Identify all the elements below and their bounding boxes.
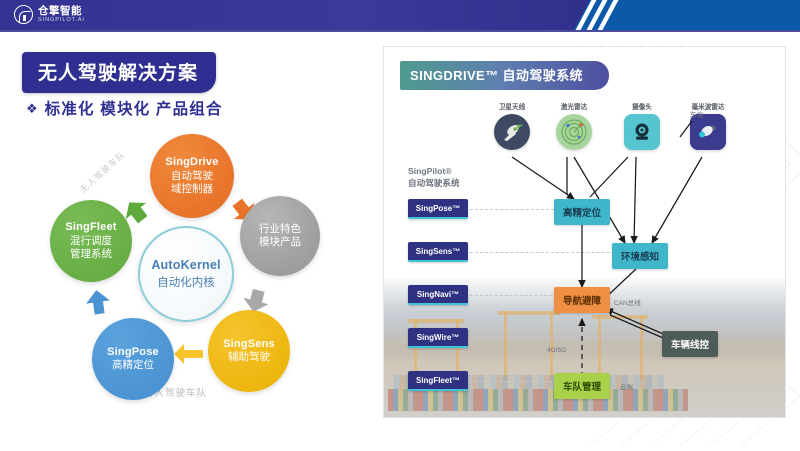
wheel-node-singfleet-cn1: 混行调度 bbox=[70, 235, 112, 248]
wheel-arrow-to-singsens bbox=[240, 288, 266, 310]
fbox-vehicle-drive-by-wire[interactable]: 车辆线控 bbox=[662, 331, 718, 357]
page-subtitle: ❖ 标准化 模块化 产品组合 bbox=[26, 97, 223, 119]
wheel-node-industry[interactable]: 行业特色 模块产品 bbox=[240, 196, 320, 276]
wheel-node-singfleet[interactable]: SingFleet 混行调度 管理系统 bbox=[50, 200, 132, 282]
annotation-can-bus: CAN总线 bbox=[614, 297, 641, 307]
wheel-core-cn: 自动化内核 bbox=[157, 274, 215, 290]
wheel-node-singpose-cn1: 高精定位 bbox=[112, 359, 154, 372]
panel-title-text: SINGDRIVE™ 自动驾驶系统 bbox=[410, 68, 583, 83]
sensor-camera-label: 摄像头 bbox=[632, 101, 652, 111]
ring-label-unmanned-fleet: 无人驾驶车队 bbox=[77, 148, 127, 195]
panel-title-banner: SINGDRIVE™ 自动驾驶系统 bbox=[400, 61, 609, 90]
wheel-node-singsens-cn1: 辅助驾驶 bbox=[228, 351, 270, 364]
brand-name-cn: 仓擎智能 bbox=[38, 6, 85, 17]
sensor-lidar[interactable]: 激光雷达 bbox=[556, 101, 592, 150]
fbox-fleet-management[interactable]: 车队管理 bbox=[554, 373, 610, 399]
singpilot-title-cn: 自动驾驶系统 bbox=[408, 177, 460, 189]
wheel-node-singpose-en: SingPose bbox=[107, 346, 159, 360]
wheel-node-industry-cn2: 模块产品 bbox=[259, 236, 301, 249]
wheel-core-en: AutoKernel bbox=[151, 258, 220, 272]
page-title-text: 无人驾驶解决方案 bbox=[38, 63, 198, 84]
chip-singfleet[interactable]: SingFleet™ bbox=[408, 371, 468, 391]
singpilot-column-title: SingPilot® 自动驾驶系统 bbox=[408, 165, 460, 190]
singpilot-logo-icon bbox=[14, 5, 33, 24]
sensor-camera[interactable]: 摄像头 bbox=[624, 101, 660, 150]
autokernel-wheel-diagram: 无人驾驶车队 有人驾驶车队 SingDrive 自动驾驶 域控制器 行业特色 模… bbox=[32, 128, 372, 418]
wheel-node-singfleet-cn2: 管理系统 bbox=[70, 248, 112, 261]
brand-logo-text: 仓擎智能 SINGPILOT.AI bbox=[38, 6, 85, 24]
brand-logo: 仓擎智能 SINGPILOT.AI bbox=[14, 5, 85, 24]
fbox-nav-obstacle[interactable]: 导航避障 bbox=[554, 287, 610, 313]
wheel-arrow-to-singpose bbox=[172, 340, 198, 362]
diamond-bullet-icon: ❖ bbox=[26, 102, 38, 115]
lidar-radar-icon bbox=[556, 114, 592, 150]
mmwave-radar-icon bbox=[690, 114, 726, 150]
container-stack-front bbox=[388, 389, 688, 411]
brand-name-en: SINGPILOT.AI bbox=[38, 18, 85, 24]
header-underline bbox=[0, 30, 800, 32]
page-subtitle-text: 标准化 模块化 产品组合 bbox=[45, 97, 223, 119]
wheel-node-singdrive-en: SingDrive bbox=[165, 156, 218, 170]
wheel-node-singdrive[interactable]: SingDrive 自动驾驶 域控制器 bbox=[150, 134, 234, 218]
sensor-satellite-antenna-label: 卫星天线 bbox=[499, 101, 525, 111]
sensor-satellite-antenna[interactable]: 卫星天线 bbox=[494, 101, 530, 150]
chip-singsens[interactable]: SingSens™ bbox=[408, 242, 468, 262]
singpilot-title-en: SingPilot® bbox=[408, 165, 460, 177]
satellite-dish-icon bbox=[494, 114, 530, 150]
chip-singpose[interactable]: SingPose™ bbox=[408, 199, 468, 219]
chip-singwire[interactable]: SingWire™ bbox=[408, 328, 468, 348]
singdrive-system-panel: SINGDRIVE™ 自动驾驶系统 卫星天线 激光雷达 bbox=[383, 46, 786, 418]
sensor-lidar-label: 激光雷达 bbox=[561, 101, 587, 111]
wheel-node-industry-cn1: 行业特色 bbox=[259, 223, 301, 236]
wheel-core-autokernel[interactable]: AutoKernel 自动化内核 bbox=[138, 226, 234, 322]
fbox-env-perception[interactable]: 环境感知 bbox=[612, 243, 668, 269]
slide-canvas: 仓擎智能 SINGPILOT.AI 无人驾驶解决方案 ❖ 标准化 模块化 产品组… bbox=[0, 0, 800, 451]
annotation-vehicle-side: 车端 bbox=[690, 109, 703, 119]
wheel-node-singpose[interactable]: SingPose 高精定位 bbox=[92, 318, 174, 400]
annotation-cloud: 云端 bbox=[620, 381, 633, 391]
wheel-node-singsens-en: SingSens bbox=[223, 338, 275, 352]
top-header-bar bbox=[0, 0, 800, 30]
wheel-node-singsens[interactable]: SingSens 辅助驾驶 bbox=[208, 310, 290, 392]
chip-singnavi[interactable]: SingNavi™ bbox=[408, 285, 468, 305]
camera-icon bbox=[624, 114, 660, 150]
wheel-node-singdrive-cn2: 域控制器 bbox=[171, 183, 213, 196]
page-title: 无人驾驶解决方案 bbox=[22, 52, 216, 93]
dotline-singpose bbox=[470, 209, 554, 210]
dotline-singwire bbox=[470, 338, 670, 339]
wheel-node-singdrive-cn1: 自动驾驶 bbox=[171, 170, 213, 183]
fbox-hd-positioning[interactable]: 高精定位 bbox=[554, 199, 610, 225]
wheel-node-singfleet-en: SingFleet bbox=[65, 221, 116, 235]
wheel-arrow-to-singfleet bbox=[84, 288, 110, 310]
annotation-network: 4G/5G bbox=[547, 347, 566, 354]
